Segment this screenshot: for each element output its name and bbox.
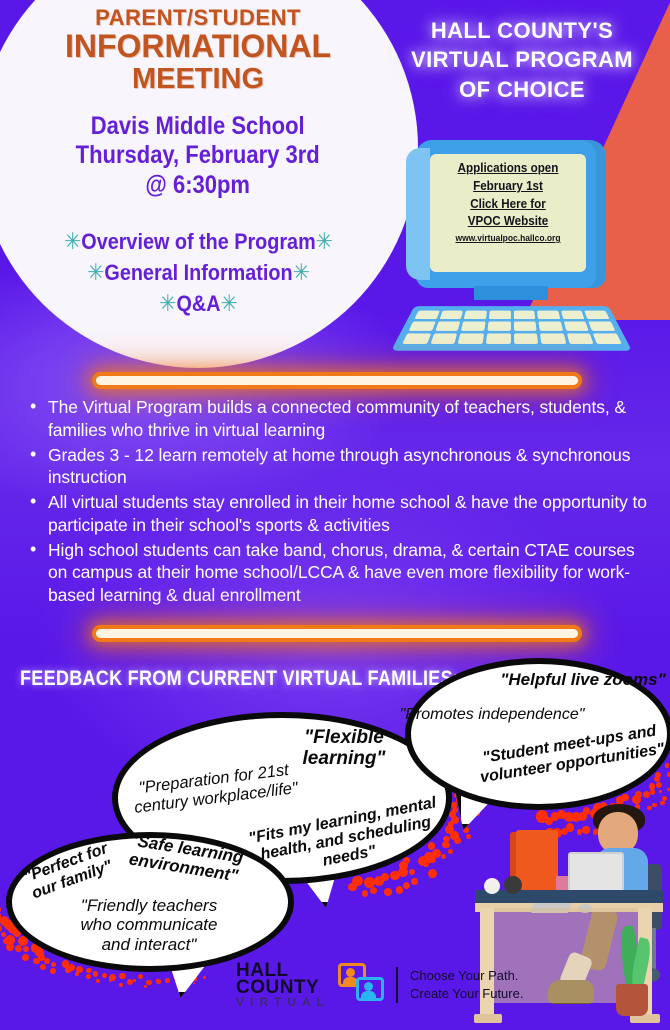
- desk-foot-left: [474, 1014, 502, 1023]
- quote-preparation: "Preparation for 21st century workplace/…: [120, 759, 309, 820]
- logo-tagline: Choose Your Path. Create Your Future.: [410, 967, 523, 1004]
- tagline-line-2: Create Your Future.: [410, 985, 523, 1003]
- orange-person-head-icon: [346, 968, 355, 977]
- halftone-dot: [119, 983, 123, 987]
- halftone-dot: [146, 980, 151, 985]
- orange-monitor: [516, 830, 558, 892]
- halftone-dot: [1, 932, 6, 937]
- blue-person-body-icon: [361, 991, 376, 999]
- halftone-dot: [86, 974, 91, 979]
- logo-virtual-text: VIRTUAL: [236, 997, 330, 1008]
- halftone-dot: [75, 972, 79, 976]
- halftone-dot: [193, 982, 195, 984]
- logo-wordmark: HALL COUNTY VIRTUAL: [236, 962, 330, 1008]
- halftone-dot: [109, 978, 113, 982]
- desk-object-light: [484, 878, 500, 894]
- halftone-dot: [0, 916, 9, 925]
- tagline-line-1: Choose Your Path.: [410, 967, 523, 985]
- logo-divider: [396, 967, 398, 1003]
- desk-object-dark: [504, 876, 522, 894]
- speech-bubble-right: "Helpful live zooms" "Promotes independe…: [405, 658, 670, 810]
- halftone-dot: [119, 973, 125, 979]
- halftone-dot: [156, 979, 159, 982]
- quote-promotes-independence: "Promotes independence": [397, 706, 587, 724]
- speech-bubble-left: "Perfect for our family" "Safe learning …: [6, 832, 294, 972]
- quote-friendly-teachers: "Friendly teachers who communicate and i…: [64, 896, 234, 954]
- halftone-dot: [50, 968, 56, 974]
- quote-safe-learning: "Safe learning environment": [108, 828, 262, 888]
- plant-pot: [616, 984, 648, 1016]
- logo-screens-icon: [334, 963, 386, 1007]
- poster-canvas: HALL COUNTY'S VIRTUAL PROGRAM OF CHOICE …: [0, 0, 670, 1030]
- blue-person-head-icon: [364, 982, 373, 991]
- halftone-dot: [93, 971, 98, 976]
- white-monitor: [568, 852, 624, 894]
- halftone-dot: [86, 968, 92, 974]
- quote-helpful-live-zooms: "Helpful live zooms": [497, 670, 669, 689]
- halftone-dot: [203, 976, 206, 979]
- halftone-dot: [102, 973, 107, 978]
- halftone-dot: [133, 979, 136, 982]
- halftone-dot: [167, 980, 170, 983]
- halftone-dot: [138, 974, 143, 979]
- halftone-dot: [96, 979, 100, 983]
- halftone-dot: [144, 985, 147, 988]
- halftone-dot: [65, 967, 70, 972]
- quote-student-meetups: "Student meet-ups and volunteer opportun…: [471, 721, 670, 789]
- hall-county-virtual-logo: HALL COUNTY VIRTUAL Choose Your Path. Cr…: [236, 962, 523, 1008]
